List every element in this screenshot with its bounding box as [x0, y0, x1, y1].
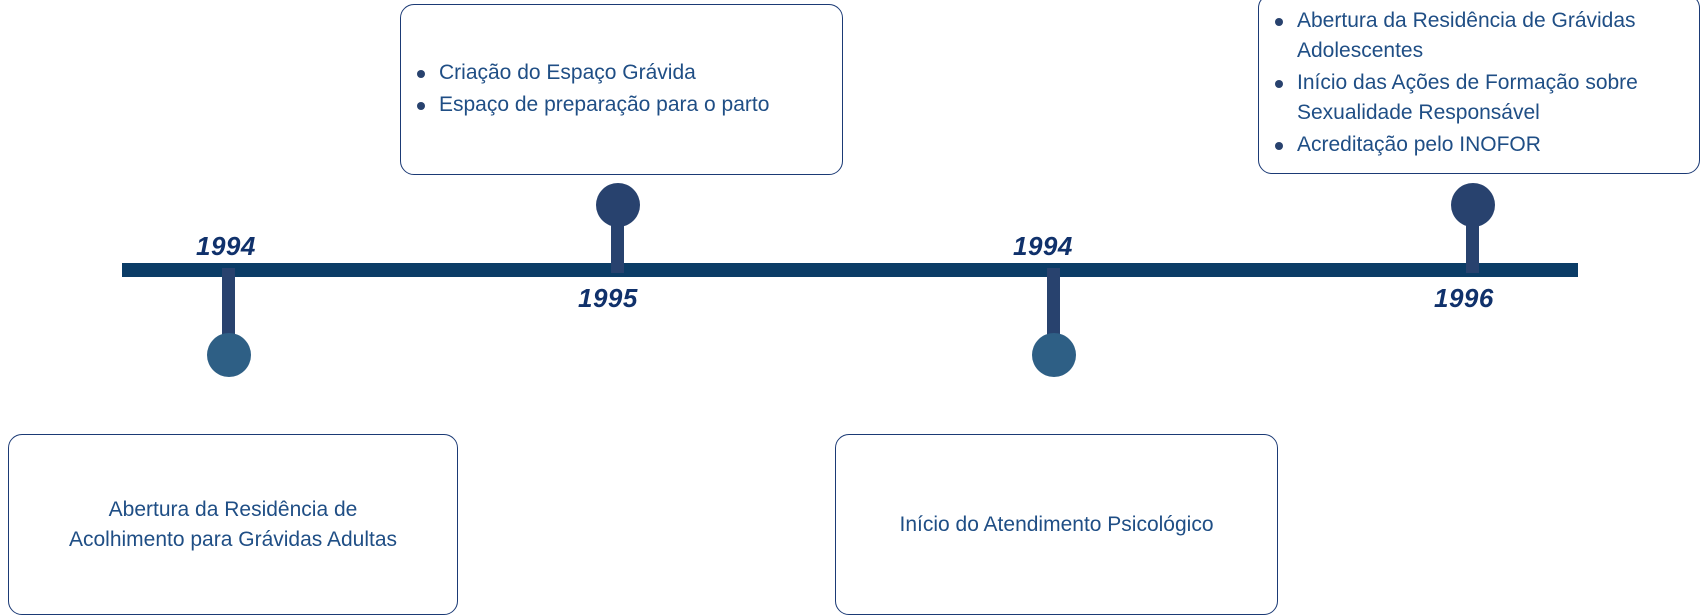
callout-residencia-adolescentes-list: Abertura da Residência de Grávidas Adole…: [1259, 6, 1699, 161]
list-item: Abertura da Residência de Grávidas Adole…: [1297, 6, 1685, 66]
timeline-year-1994-right: 1994: [1013, 231, 1073, 262]
list-item: Espaço de preparação para o parto: [439, 90, 769, 120]
callout-residencia-adultas-text: Abertura da Residência de Acolhimento pa…: [69, 495, 397, 555]
timeline-node-atendimento-psicologico[interactable]: [1032, 333, 1076, 377]
timeline-node-residencia-adolescentes[interactable]: [1451, 183, 1495, 227]
callout-atendimento-psicologico-line-1: Início do Atendimento Psicológico: [899, 510, 1213, 540]
callout-residencia-adultas-line-2: Acolhimento para Grávidas Adultas: [69, 525, 397, 555]
timeline-axis-bar: [122, 263, 1578, 277]
callout-espaco-gravida-list: Criação do Espaço Grávida Espaço de prep…: [401, 58, 783, 122]
timeline-year-1994-left: 1994: [196, 231, 256, 262]
timeline-year-1995: 1995: [578, 283, 638, 314]
timeline-year-1996: 1996: [1434, 283, 1494, 314]
timeline-node-espaco-gravida[interactable]: [596, 183, 640, 227]
list-item: Acreditação pelo INOFOR: [1297, 130, 1685, 160]
callout-residencia-adultas-line-1: Abertura da Residência de: [69, 495, 397, 525]
callout-residencia-adolescentes-body: Abertura da Residência de Grávidas Adole…: [1259, 0, 1699, 173]
list-item: Criação do Espaço Grávida: [439, 58, 769, 88]
callout-espaco-gravida-body: Criação do Espaço Grávida Espaço de prep…: [401, 5, 842, 174]
callout-atendimento-psicologico-text: Início do Atendimento Psicológico: [899, 510, 1213, 540]
callout-residencia-adultas[interactable]: Abertura da Residência de Acolhimento pa…: [8, 434, 458, 615]
callout-espaco-gravida[interactable]: Criação do Espaço Grávida Espaço de prep…: [400, 4, 843, 175]
timeline-node-residencia-adultas[interactable]: [207, 333, 251, 377]
timeline-diagram: 1994 Abertura da Residência de Acolhimen…: [0, 0, 1700, 615]
callout-atendimento-psicologico[interactable]: Início do Atendimento Psicológico: [835, 434, 1278, 615]
list-item: Início das Ações de Formação sobre Sexua…: [1297, 68, 1685, 128]
callout-residencia-adolescentes[interactable]: Abertura da Residência de Grávidas Adole…: [1258, 0, 1700, 174]
